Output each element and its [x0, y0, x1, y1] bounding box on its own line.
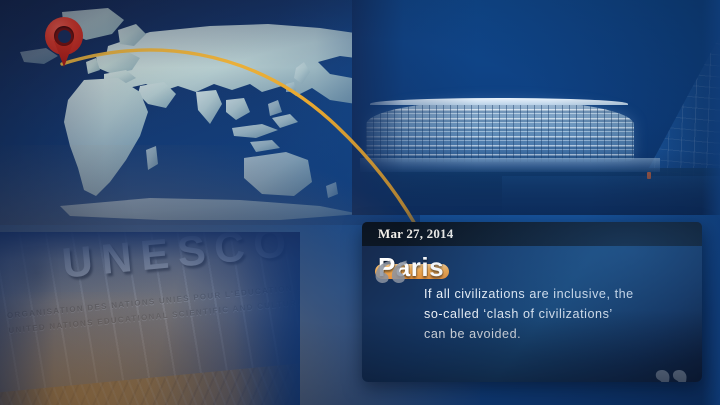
right-edge-shade: [702, 0, 720, 405]
slide-canvas: UNESCO ORGANISATION DES NATIONS UNIES PO…: [0, 0, 720, 405]
quote-card: Mar 27, 2014 Paris “ If all civilization…: [362, 222, 702, 382]
